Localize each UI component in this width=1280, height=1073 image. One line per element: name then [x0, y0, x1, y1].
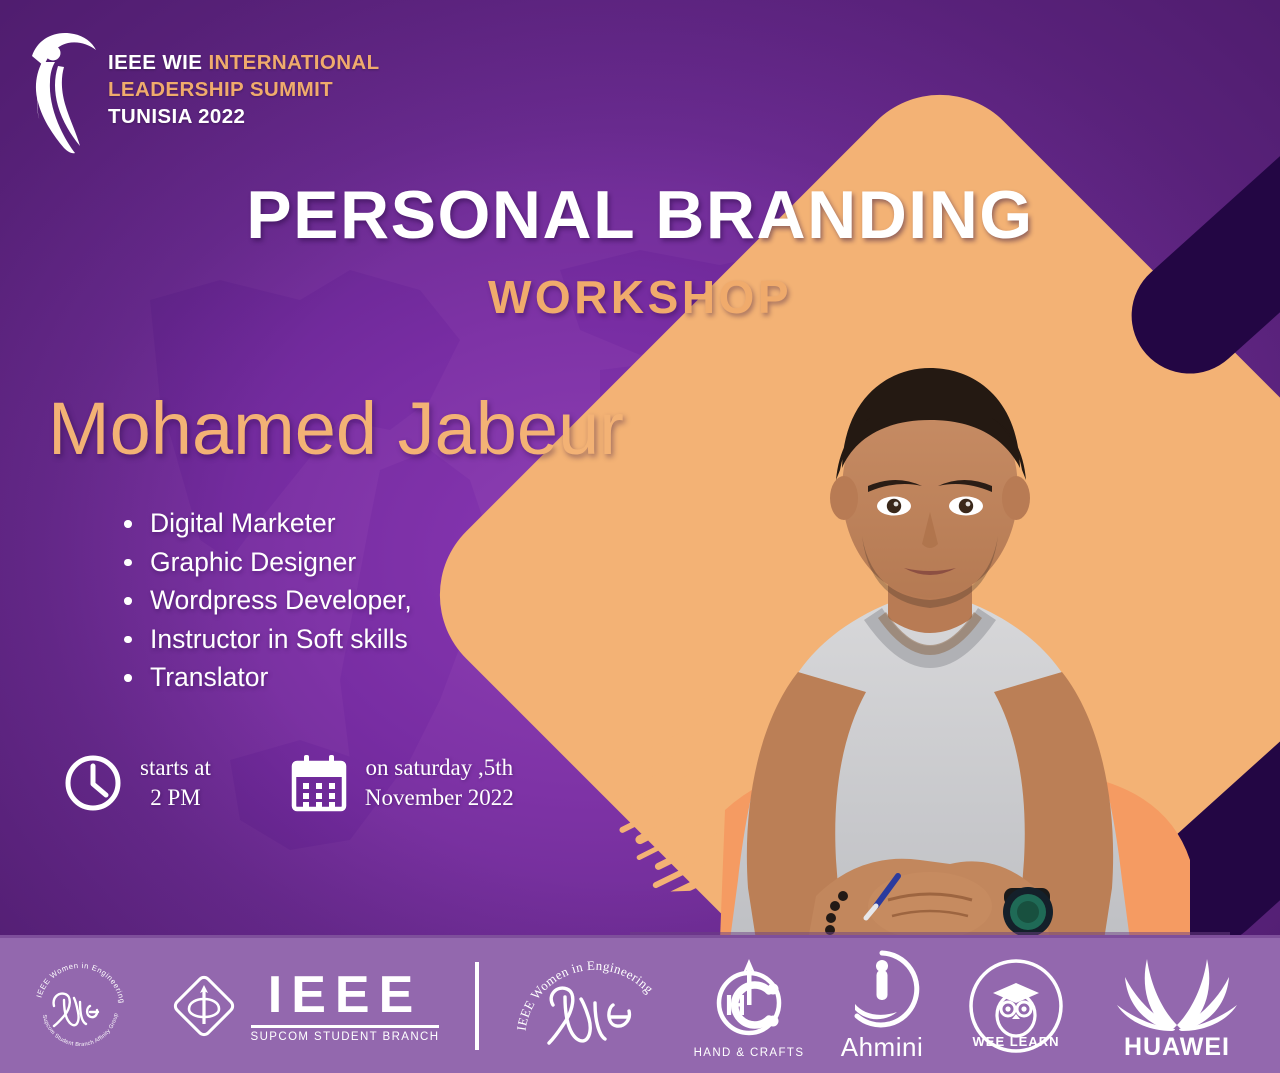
svg-text:IEEE Women in Engineering: IEEE Women in Engineering — [35, 960, 127, 1003]
wie-seal-icon: IEEE Women in Engineering Supcom Student… — [24, 950, 136, 1062]
ieee-wordmark: IEEE — [268, 969, 423, 1021]
footer-logo-ieee-supcom-student-branch[interactable]: IEEE SUPCOM STUDENT BRANCH — [154, 969, 454, 1043]
page-subtitle: WORKSHOP — [0, 270, 1280, 324]
event-logo: IEEE WIE INTERNATIONAL LEADERSHIP SUMMIT… — [22, 22, 380, 157]
seal-ring-top-text: IEEE Women in Engineering — [35, 960, 127, 1003]
logo-line3: TUNISIA 2022 — [108, 103, 380, 130]
event-time-line2: 2 PM — [140, 783, 211, 813]
speaker-photo — [630, 340, 1230, 940]
wee-learn-owl-icon: WEE LEARN — [963, 953, 1069, 1059]
ieee-diamond-icon — [169, 971, 239, 1041]
list-item: Translator — [112, 658, 412, 697]
footer-divider — [475, 962, 479, 1050]
list-item: Digital Marketer — [112, 504, 412, 543]
event-time: starts at 2 PM — [62, 752, 211, 814]
footer-label-ahmini: Ahmini — [841, 1032, 923, 1063]
logo-line1-white: IEEE WIE — [108, 51, 208, 74]
wee-learn-badge-text: WEE LEARN — [973, 1034, 1060, 1049]
event-date-line2: November 2022 — [365, 783, 514, 813]
footer-logo-wee-learn[interactable]: WEE LEARN — [952, 953, 1080, 1059]
logo-line2: LEADERSHIP SUMMIT — [108, 76, 380, 103]
hand-and-crafts-icon: H — [703, 953, 795, 1045]
wie-ring-text: IEEE Women in Engineering — [513, 957, 656, 1031]
footer-logo-ieee-wie-supcom-seal[interactable]: IEEE Women in Engineering Supcom Student… — [6, 950, 154, 1062]
wie-dancer-figure-icon — [22, 22, 100, 157]
list-item: Graphic Designer — [112, 543, 412, 582]
footer-label-huawei: HUAWEI — [1124, 1033, 1230, 1062]
huawei-flower-icon — [1111, 949, 1243, 1031]
list-item: Instructor in Soft skills — [112, 620, 412, 659]
sponsor-footer: IEEE Women in Engineering Supcom Student… — [0, 935, 1280, 1073]
list-item: Wordpress Developer, — [112, 581, 412, 620]
footer-logo-huawei[interactable]: HUAWEI — [1080, 949, 1274, 1062]
footer-logo-ahmini[interactable]: Ahmini — [812, 948, 952, 1063]
wie-script-icon: IEEE Women in Engineering — [509, 947, 677, 1065]
poster-canvas: IEEE WIE INTERNATIONAL LEADERSHIP SUMMIT… — [0, 0, 1280, 1073]
event-meta: starts at 2 PM — [62, 752, 514, 814]
event-time-line1: starts at — [140, 753, 211, 783]
ieee-underline — [251, 1025, 440, 1028]
footer-label-supcom: SUPCOM STUDENT BRANCH — [251, 1031, 440, 1043]
page-title: PERSONAL BRANDING — [0, 176, 1280, 254]
speaker-name: Mohamed Jabeur — [48, 386, 624, 471]
speaker-roles-list: Digital Marketer Graphic Designer Wordpr… — [112, 504, 412, 697]
clock-icon — [62, 752, 124, 814]
event-logo-text: IEEE WIE INTERNATIONAL LEADERSHIP SUMMIT… — [108, 49, 380, 130]
svg-text:Supcom Student Branch Affinity: Supcom Student Branch Affinity Group — [41, 1012, 120, 1047]
footer-logo-hand-and-crafts[interactable]: H HAND & CRAFTS — [686, 953, 812, 1059]
footer-label-hand-and-crafts: HAND & CRAFTS — [694, 1047, 805, 1059]
footer-logo-ieee-wie[interactable]: IEEE Women in Engineering — [500, 947, 686, 1065]
logo-line1-orange: INTERNATIONAL — [208, 51, 379, 74]
event-date-line1: on saturday ,5th — [365, 753, 514, 783]
svg-text:IEEE Women in Engineering: IEEE Women in Engineering — [513, 957, 656, 1031]
calendar-icon — [289, 752, 349, 814]
ahmini-icon — [841, 948, 923, 1030]
event-date: on saturday ,5th November 2022 — [289, 752, 514, 814]
seal-ring-bottom-text: Supcom Student Branch Affinity Group — [41, 1012, 120, 1047]
